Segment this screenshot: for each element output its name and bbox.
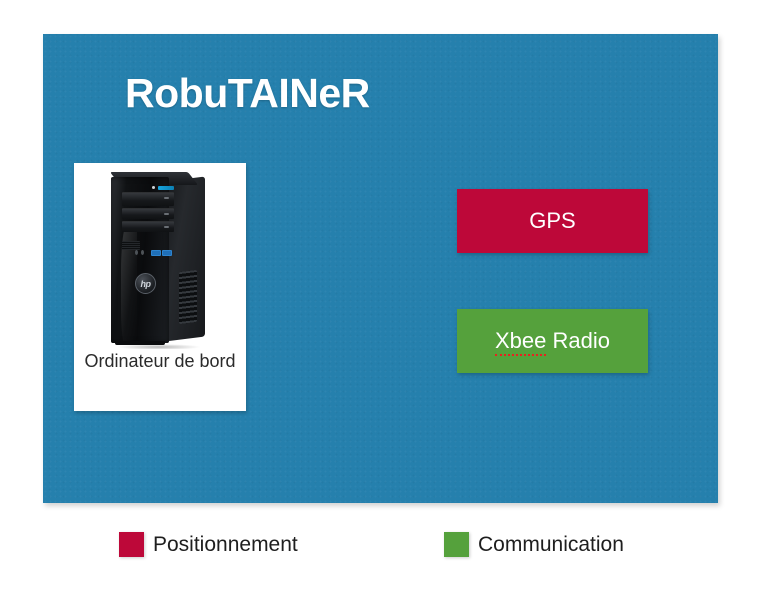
node-card-computer[interactable]: hp Ordinateur de bord: [74, 163, 246, 411]
drive-bay: [122, 221, 174, 232]
tower-front-panel: hp: [111, 177, 169, 343]
eject-button-icon: [164, 213, 169, 215]
hp-tower-illustration: hp: [103, 169, 207, 345]
legend: Positionnement Communication: [0, 530, 769, 570]
legend-swatch-communication: [444, 532, 469, 557]
mic-jack-icon: [141, 250, 144, 255]
tower-shadow: [117, 344, 201, 349]
legend-label-communication: Communication: [478, 533, 624, 557]
legend-swatch-positionnement: [119, 532, 144, 557]
usb-port-icon: [151, 250, 161, 256]
eject-button-icon: [164, 226, 169, 228]
node-box-xbee-radio[interactable]: Xbee Radio: [457, 309, 648, 373]
legend-item-positionnement: Positionnement: [119, 532, 298, 557]
power-indicator-strip: [158, 186, 174, 190]
legend-item-communication: Communication: [444, 532, 624, 557]
spellcheck-underlined-word: Xbee: [495, 328, 546, 356]
page-title: RobuTAINeR: [125, 70, 370, 117]
slide-panel: RobuTAINeR: [43, 34, 718, 503]
node-label-xbee-radio: Xbee Radio: [495, 328, 610, 354]
hp-logo-icon: hp: [135, 273, 156, 294]
usb-port-icon: [162, 250, 172, 256]
legend-label-positionnement: Positionnement: [153, 533, 298, 557]
node-label-xbee-radio-rest: Radio: [546, 328, 610, 353]
audio-jack-icon: [135, 250, 138, 255]
optical-drive-bay: [122, 192, 174, 206]
eject-button-icon: [164, 197, 169, 199]
front-port-row: [135, 249, 173, 257]
side-vent-grille: [179, 270, 197, 324]
power-button-icon: [152, 186, 155, 189]
computer-tower-image: hp: [74, 163, 246, 349]
drive-bay: [122, 208, 174, 219]
node-label-gps: GPS: [529, 208, 575, 234]
node-box-gps[interactable]: GPS: [457, 189, 648, 253]
node-label-computer: Ordinateur de bord: [80, 350, 240, 373]
